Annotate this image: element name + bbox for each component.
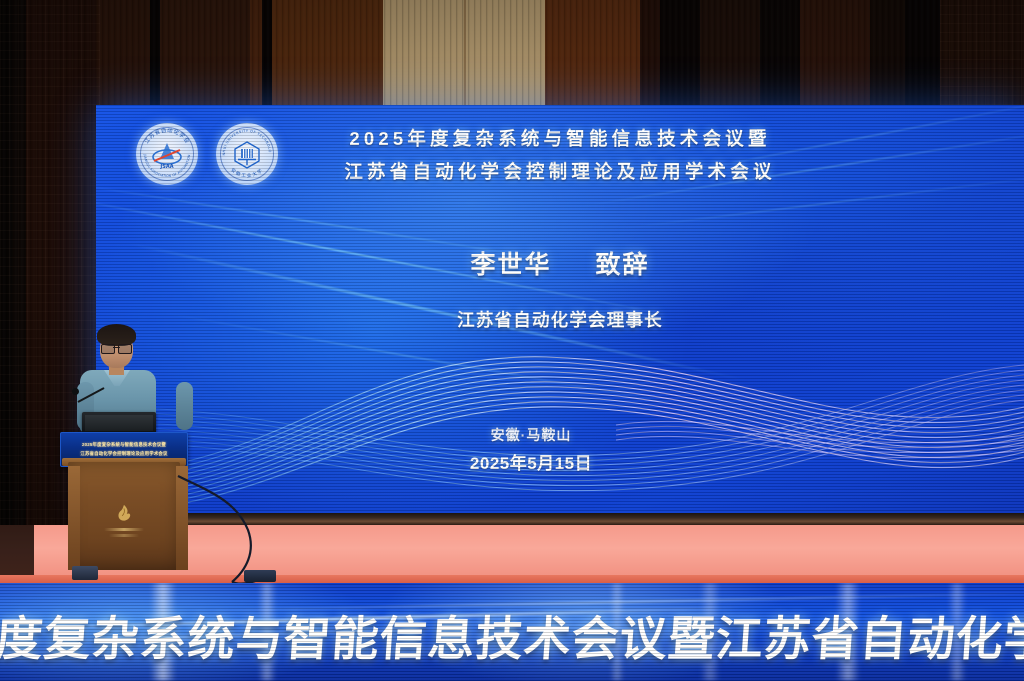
- screen-bottom-edge: [96, 513, 1024, 525]
- speaker-name-row: 李世华 致辞: [96, 245, 1024, 281]
- led-screen: 江苏省自动化学会 JIANGSU ASSOCIATION OF AUTOMATI…: [96, 105, 1024, 517]
- speaker-role: 江苏省自动化学会理事长: [96, 307, 1024, 332]
- floor-equipment-box: [72, 566, 98, 580]
- glasses-icon: [101, 344, 132, 352]
- microphone-icon: [72, 388, 79, 395]
- podium-sign-line-2: 江苏省自动化学会控制理论及应用学术会议: [61, 450, 187, 458]
- logo-emblem: JSAA: [150, 137, 184, 171]
- banner-scanlines: [0, 583, 1024, 681]
- speaker-action: 致辞: [595, 251, 649, 279]
- speaker-arm-right: [176, 382, 193, 430]
- conference-stage-scene: 江苏省自动化学会 JIANGSU ASSOCIATION OF AUTOMATI…: [0, 0, 1024, 681]
- speaker-name: 李世华: [471, 251, 552, 279]
- podium-and-speaker: 2025年度复杂系统与智能信息技术会议暨 江苏省自动化学会控制理论及应用学术会议: [60, 320, 210, 580]
- svg-text:JSAA: JSAA: [159, 164, 173, 170]
- podium-side-right: [176, 466, 188, 570]
- bottom-led-banner: 年度复杂系统与智能信息技术会议暨江苏省自动化学会控制: [0, 583, 1024, 681]
- podium-emblem-text-line: [109, 534, 139, 537]
- venue-date: 2025年5月15日: [441, 449, 621, 474]
- gold-phoenix-hotel-emblem-icon: [102, 498, 146, 542]
- venue-block: 安徽·马鞍山 2025年5月15日: [441, 425, 621, 474]
- podium-side-left: [68, 466, 80, 570]
- floor-equipment-box: [244, 570, 276, 582]
- speaker-hair: [97, 324, 136, 346]
- podium-sign-line-1: 2025年度复杂系统与智能信息技术会议暨: [61, 441, 187, 449]
- venue-place: 安徽·马鞍山: [441, 425, 621, 445]
- logo-emblem: [230, 137, 264, 171]
- speaker-block: 李世华 致辞 江苏省自动化学会理事长: [96, 245, 1024, 332]
- podium-emblem-text-line: [104, 528, 144, 531]
